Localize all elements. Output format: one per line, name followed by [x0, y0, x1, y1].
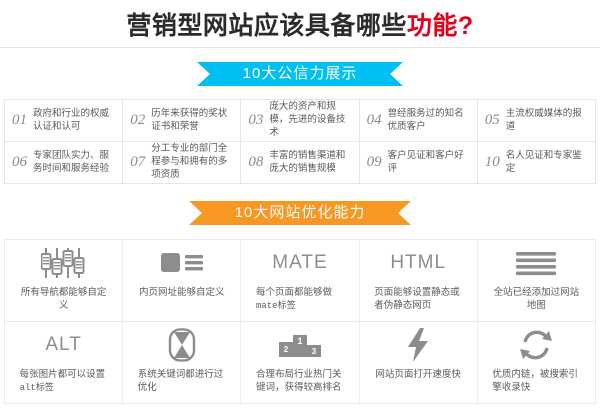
item-index: 05: [485, 112, 500, 129]
optimization-caption: 系统关键词都进行过优化: [138, 368, 226, 395]
layout-blocks-icon: [160, 242, 204, 284]
optimization-caption: 每个页面都能够做 mate标签: [256, 286, 344, 313]
optimization-caption: 页面能够设置静态或者伪静态网页: [374, 286, 462, 313]
item-text: 分工专业的部门全程参与和拥有的多项资质: [151, 143, 235, 181]
html-text-icon: HTML: [390, 242, 446, 284]
optimization-caption: 内页网址能够自定义: [138, 286, 226, 299]
item-index: 03: [248, 112, 263, 129]
item-index: 02: [130, 112, 145, 129]
credibility-item[interactable]: 02 历年来获得的奖状证书和荣誉: [123, 100, 241, 142]
credibility-item[interactable]: 06 专家团队实力、服务时间和服务经验: [5, 142, 123, 184]
credibility-item[interactable]: 08 丰富的销售渠道和庞大的销售规模: [241, 142, 359, 184]
refresh-sync-icon: [519, 324, 553, 366]
optimization-item[interactable]: 1 2 3 合理布局行业热门关键词，获得较高排名: [241, 322, 359, 404]
sliders-icon: [41, 242, 87, 284]
optimization-caption: 每张图片都可以设置 alt标签: [20, 368, 108, 395]
optimization-item[interactable]: HTML 页面能够设置静态或者伪静态网页: [360, 240, 478, 322]
caption-line-1: 每张图片都可以设置: [20, 369, 106, 380]
optimization-item[interactable]: MATE 每个页面都能够做 mate标签: [241, 240, 359, 322]
item-text: 政府和行业的权威认证和认可: [33, 108, 117, 134]
optimization-item[interactable]: 所有导航都能够自定义: [5, 240, 123, 322]
page-title-accent: 功能?: [407, 12, 474, 40]
optimization-banner: 10大网站优化能力: [189, 201, 412, 225]
optimization-item[interactable]: 系统关键词都进行过优化: [123, 322, 241, 404]
credibility-banner-wrap: 10大公信力展示: [0, 48, 600, 99]
item-text: 庞大的资产和规模，先进的设备技术: [269, 101, 353, 139]
credibility-item[interactable]: 01 政府和行业的权威认证和认可: [5, 100, 123, 142]
item-index: 01: [12, 112, 27, 129]
sitemap-lines-icon: [516, 242, 556, 284]
alt-text-label: ALT: [45, 334, 81, 356]
item-index: 10: [485, 154, 500, 171]
optimization-item[interactable]: 全站已经添加过网站地图: [478, 240, 596, 322]
infographic-page: 营销型网站应该具备哪些功能? 10大公信力展示 01 政府和行业的权威认证和认可…: [0, 0, 600, 415]
credibility-item[interactable]: 09 客户见证和客户好评: [360, 142, 478, 184]
optimization-item[interactable]: 网站页面打开速度快: [360, 322, 478, 404]
optimization-caption: 网站页面打开速度快: [374, 368, 462, 381]
podium-first-label: 1: [297, 336, 302, 346]
html-text-label: HTML: [390, 252, 446, 274]
alt-text-icon: ALT: [45, 324, 81, 366]
caption-line-2: alt标签: [20, 383, 54, 393]
item-text: 丰富的销售渠道和庞大的销售规模: [269, 150, 353, 176]
item-text: 历年来获得的奖状证书和荣誉: [151, 108, 235, 134]
caption-line-2: mate标签: [256, 301, 296, 311]
optimization-item[interactable]: 内页网址能够自定义: [123, 240, 241, 322]
optimization-caption: 所有导航都能够自定义: [20, 286, 108, 313]
item-text: 名人见证和专家鉴定: [506, 150, 590, 176]
item-text: 专家团队实力、服务时间和服务经验: [33, 150, 117, 176]
page-title-main: 营销型网站应该具备哪些: [126, 12, 407, 40]
page-title: 营销型网站应该具备哪些功能?: [126, 6, 473, 42]
item-text: 曾经服务过的知名优质客户: [388, 108, 472, 134]
mate-text-icon: MATE: [272, 242, 327, 284]
page-header: 营销型网站应该具备哪些功能?: [0, 0, 600, 48]
mate-text-label: MATE: [272, 252, 327, 274]
item-index: 07: [130, 154, 145, 171]
caption-line-1: 每个页面都能够做: [256, 287, 332, 298]
optimization-banner-wrap: 10大网站优化能力: [0, 184, 600, 239]
item-index: 09: [367, 154, 382, 171]
item-index: 04: [367, 112, 382, 129]
lightning-bolt-icon: [406, 324, 430, 366]
credibility-item[interactable]: 04 曾经服务过的知名优质客户: [360, 100, 478, 142]
credibility-item[interactable]: 03 庞大的资产和规模，先进的设备技术: [241, 100, 359, 142]
optimization-caption: 全站已经添加过网站地图: [492, 286, 580, 313]
item-index: 08: [248, 154, 263, 171]
item-index: 06: [12, 154, 27, 171]
podium-second-label: 2: [284, 345, 289, 354]
credibility-banner: 10大公信力展示: [197, 62, 404, 86]
credibility-item[interactable]: 05 主流权威媒体的报道: [478, 100, 596, 142]
item-text: 客户见证和客户好评: [388, 150, 472, 176]
hourglass-icon: [167, 324, 197, 366]
optimization-item[interactable]: ALT 每张图片都可以设置 alt标签: [5, 322, 123, 404]
item-text: 主流权威媒体的报道: [506, 108, 590, 134]
optimization-caption: 合理布局行业热门关键词，获得较高排名: [256, 368, 344, 395]
credibility-grid: 01 政府和行业的权威认证和认可 02 历年来获得的奖状证书和荣誉 03 庞大的…: [4, 99, 596, 184]
optimization-grid: 所有导航都能够自定义 内页网址能够自定义 MATE: [4, 239, 596, 404]
credibility-item[interactable]: 07 分工专业的部门全程参与和拥有的多项资质: [123, 142, 241, 184]
optimization-caption: 优质内链，被搜索引擎收录快: [492, 368, 580, 395]
podium-third-label: 3: [312, 347, 317, 356]
credibility-item[interactable]: 10 名人见证和专家鉴定: [478, 142, 596, 184]
optimization-item[interactable]: 优质内链，被搜索引擎收录快: [478, 322, 596, 404]
podium-ranking-icon: 1 2 3: [278, 324, 322, 366]
